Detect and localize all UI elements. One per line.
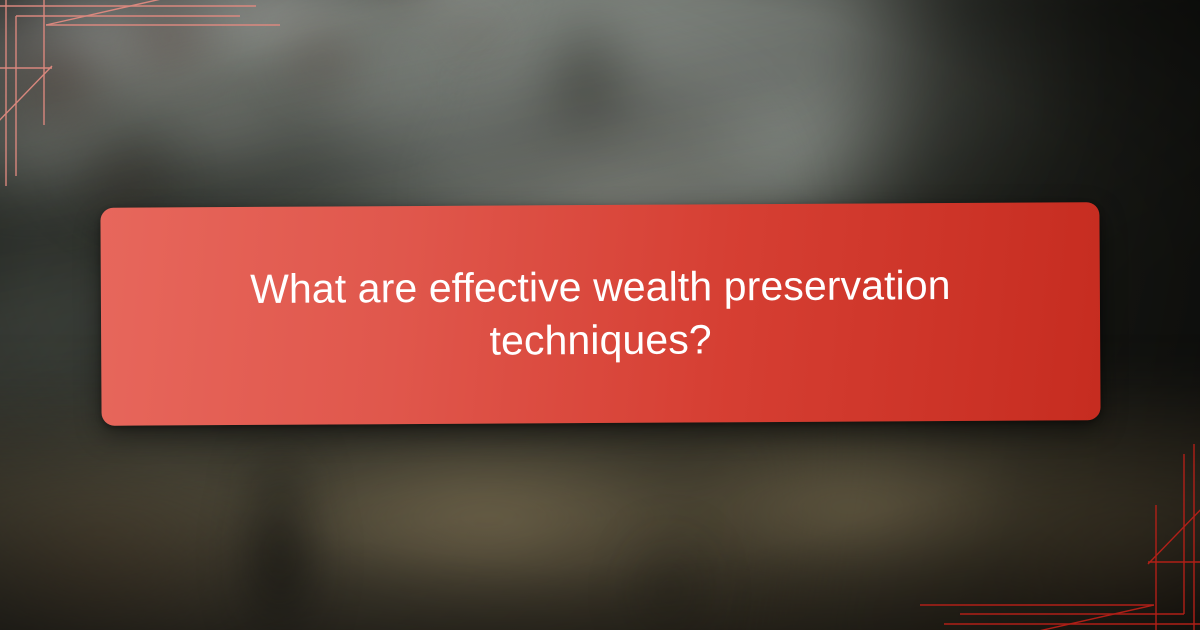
question-card-graphic: What are effective wealth preservation t… [0, 0, 1200, 630]
question-text: What are effective wealth preservation t… [230, 259, 971, 370]
question-card: What are effective wealth preservation t… [100, 202, 1100, 426]
